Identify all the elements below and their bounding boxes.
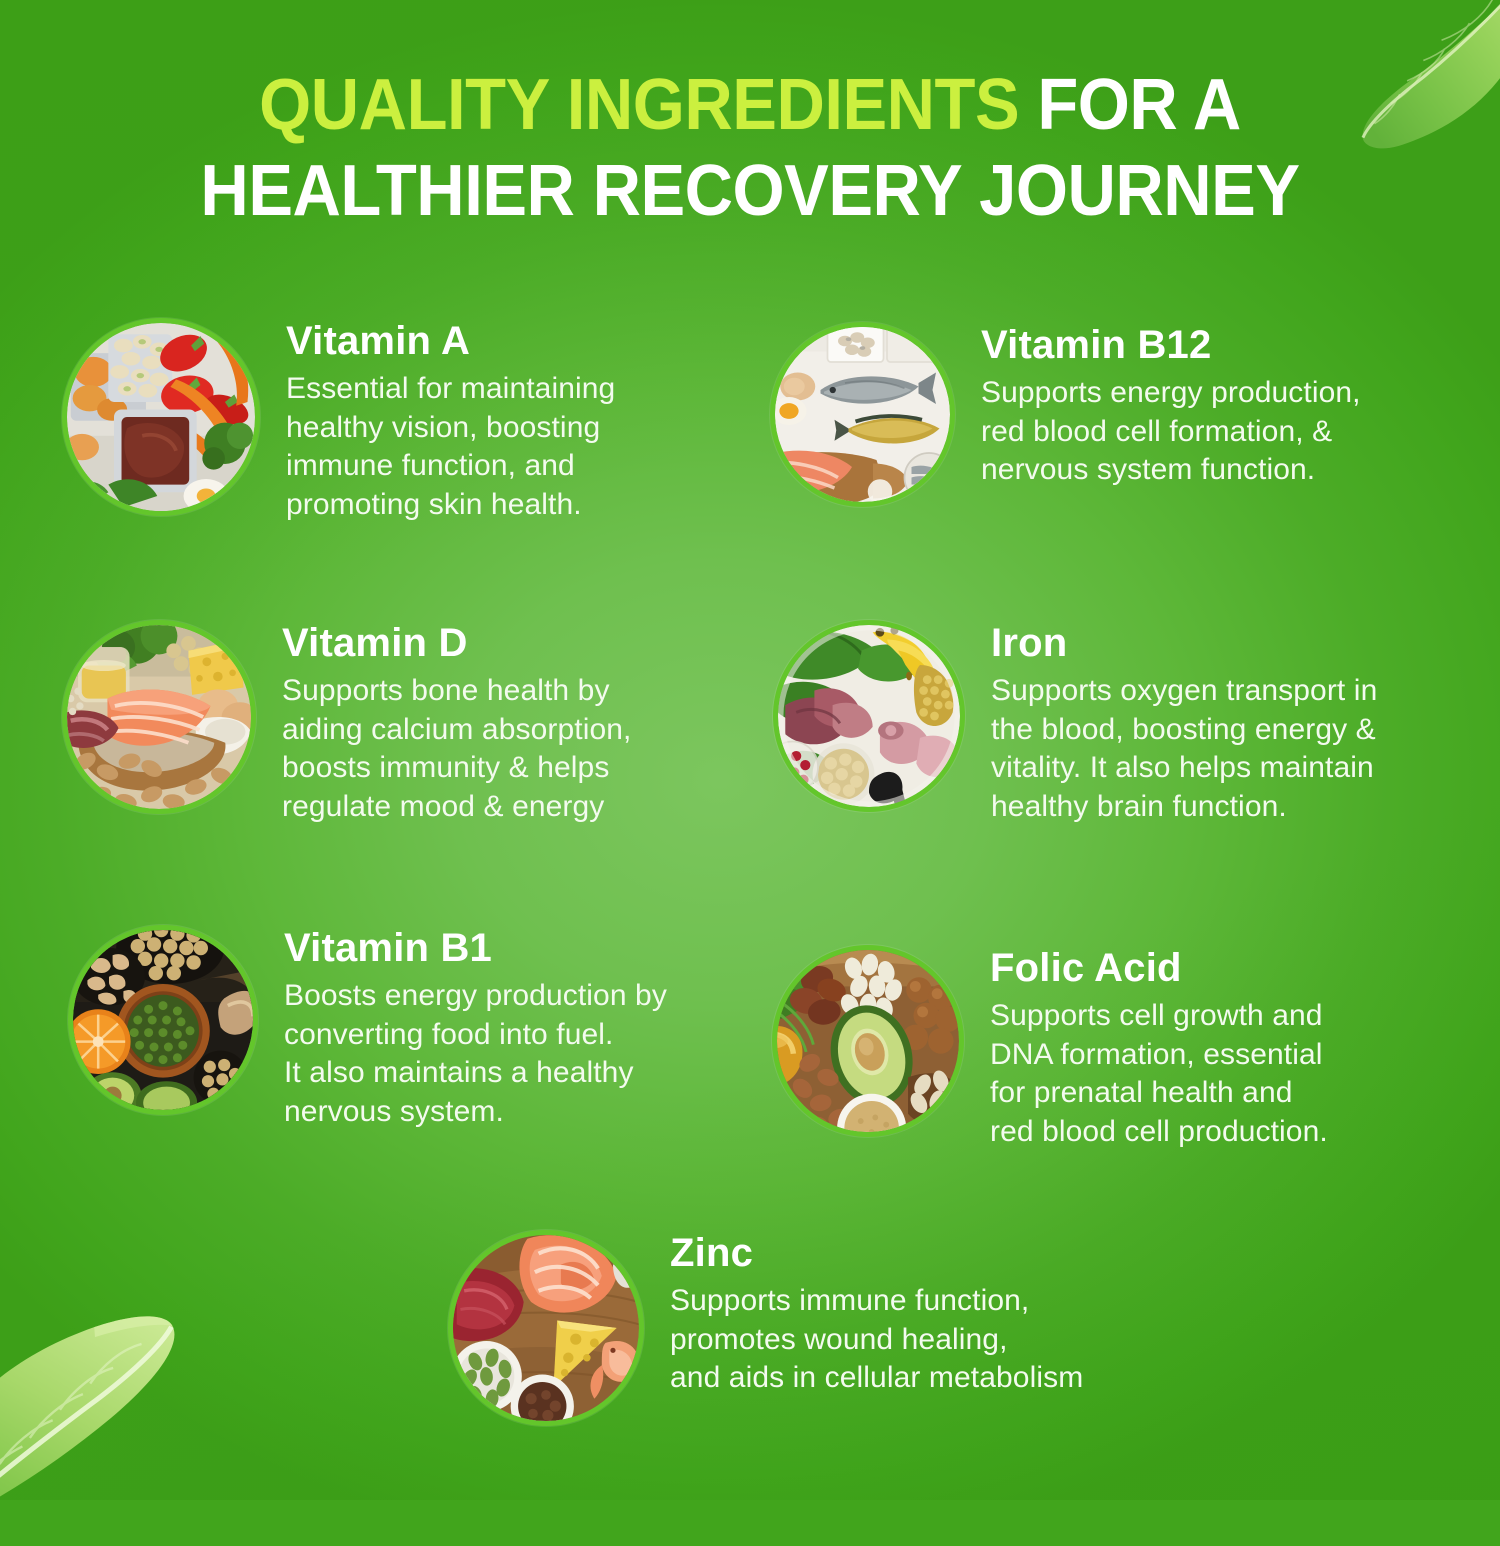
ingredient-name-vitamin-b1: Vitamin B1 xyxy=(284,925,667,971)
ingredient-description-vitamin-b1: Boosts energy production by converting f… xyxy=(284,977,667,1131)
ingredient-text-iron: Iron Supports oxygen transport in the bl… xyxy=(965,620,1377,826)
thumb-ring-vitamin-a xyxy=(62,318,260,516)
ingredient-item-vitamin-b1: Vitamin B1 Boosts energy production by c… xyxy=(68,925,758,1131)
ingredient-description-vitamin-a: Essential for maintaining healthy vision… xyxy=(286,370,615,524)
title-line-2: HEALTHIER RECOVERY JOURNEY xyxy=(53,148,1448,234)
ingredient-description-vitamin-b12: Supports energy production, red blood ce… xyxy=(981,374,1361,490)
ingredient-name-iron: Iron xyxy=(991,620,1377,666)
title-accent-text: QUALITY INGREDIENTS xyxy=(259,65,1019,145)
ingredient-item-vitamin-b12: Vitamin B12 Supports energy production, … xyxy=(770,322,1450,507)
thumb-ring-iron xyxy=(773,620,965,812)
ingredient-image-folic-acid xyxy=(777,950,959,1132)
ingredient-image-vitamin-b1 xyxy=(73,930,253,1110)
ingredient-text-vitamin-a: Vitamin A Essential for maintaining heal… xyxy=(260,318,615,524)
ingredient-description-folic-acid: Supports cell growth and DNA formation, … xyxy=(990,997,1328,1151)
ingredient-item-iron: Iron Supports oxygen transport in the bl… xyxy=(773,620,1453,826)
thumb-ring-vitamin-b12 xyxy=(770,322,955,507)
ingredient-name-zinc: Zinc xyxy=(670,1230,1083,1276)
ingredient-text-vitamin-b1: Vitamin B1 Boosts energy production by c… xyxy=(258,925,667,1131)
ingredient-text-folic-acid: Folic Acid Supports cell growth and DNA … xyxy=(964,945,1328,1151)
ingredient-item-vitamin-d: Vitamin D Supports bone health by aiding… xyxy=(62,620,732,826)
ingredient-text-vitamin-d: Vitamin D Supports bone health by aiding… xyxy=(256,620,631,826)
page-title: QUALITY INGREDIENTS FOR A HEALTHIER RECO… xyxy=(0,62,1500,234)
thumb-ring-vitamin-b1 xyxy=(68,925,258,1115)
ingredient-name-vitamin-b12: Vitamin B12 xyxy=(981,322,1361,368)
title-rest-text: FOR A xyxy=(1019,65,1241,145)
thumb-ring-folic-acid xyxy=(772,945,964,1137)
ingredient-item-zinc: Zinc Supports immune function, promotes … xyxy=(448,1230,1188,1426)
ingredient-text-vitamin-b12: Vitamin B12 Supports energy production, … xyxy=(955,322,1361,490)
ingredient-text-zinc: Zinc Supports immune function, promotes … xyxy=(644,1230,1083,1398)
thumb-ring-zinc xyxy=(448,1230,644,1426)
ingredient-image-iron xyxy=(778,625,960,807)
ingredient-item-vitamin-a: Vitamin A Essential for maintaining heal… xyxy=(62,318,722,524)
ingredient-name-vitamin-d: Vitamin D xyxy=(282,620,631,666)
ingredient-image-vitamin-b12 xyxy=(775,327,950,502)
ingredient-description-zinc: Supports immune function, promotes wound… xyxy=(670,1282,1083,1398)
ingredient-description-iron: Supports oxygen transport in the blood, … xyxy=(991,672,1377,826)
ingredient-image-vitamin-a xyxy=(67,323,255,511)
ingredient-image-zinc xyxy=(453,1235,639,1421)
ingredient-item-folic-acid: Folic Acid Supports cell growth and DNA … xyxy=(772,945,1452,1151)
thumb-ring-vitamin-d xyxy=(62,620,256,814)
ingredient-description-vitamin-d: Supports bone health by aiding calcium a… xyxy=(282,672,631,826)
ingredient-name-vitamin-a: Vitamin A xyxy=(286,318,615,364)
title-line-1: QUALITY INGREDIENTS FOR A xyxy=(53,62,1448,148)
ingredient-image-vitamin-d xyxy=(67,625,251,809)
ingredient-name-folic-acid: Folic Acid xyxy=(990,945,1328,991)
